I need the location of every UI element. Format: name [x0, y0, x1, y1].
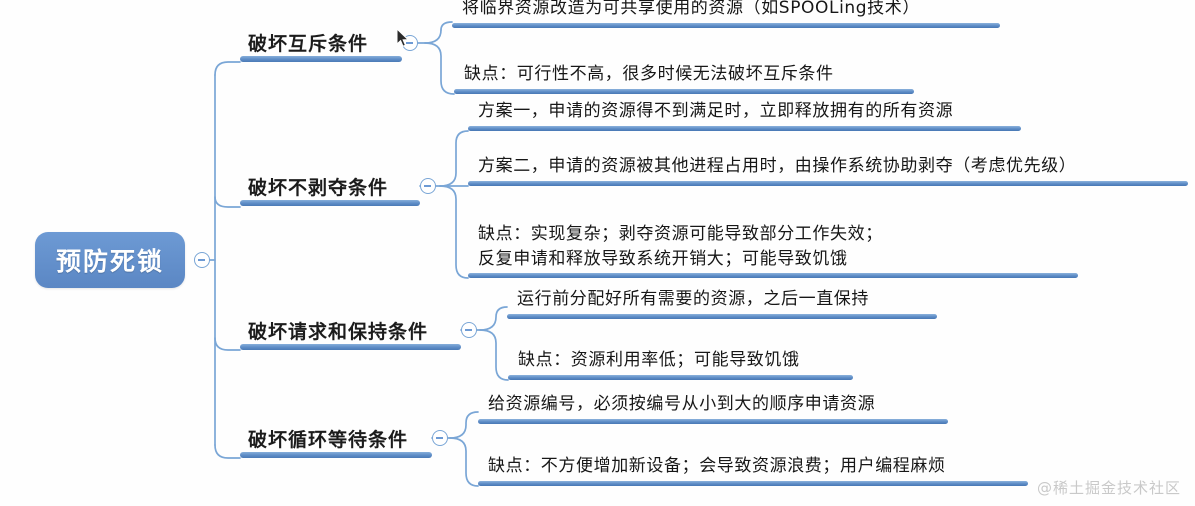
leaf-node-3-2[interactable]: 缺点：资源利用率低；可能导致饥饿: [508, 352, 853, 380]
leaf-node-1-2-underline: [454, 89, 914, 94]
watermark-text: @稀土掘金技术社区: [1037, 477, 1181, 498]
leaf-node-2-3-line1: 缺点：实现复杂；剥夺资源可能导致部分工作失效；: [478, 222, 883, 247]
leaf-node-2-3-label: 缺点：实现复杂；剥夺资源可能导致部分工作失效； 反复申请和释放导致系统开销大；可…: [478, 222, 883, 272]
leaf-node-1-1[interactable]: 将临界资源改造为可共享使用的资源（如SPOOLing技术）: [452, 0, 1000, 28]
branch-node-1-label: 破坏互斥条件: [248, 29, 368, 56]
root-node[interactable]: 预防死锁: [35, 232, 185, 288]
leaf-node-4-2-underline: [478, 481, 1028, 486]
branch-node-3-label: 破坏请求和保持条件: [248, 317, 428, 344]
mindmap-canvas[interactable]: 预防死锁 破坏互斥条件 将临界资源改造为可共享使用的资源（如SPOOLing技术…: [0, 0, 1195, 506]
collapse-minus-icon-branch-2[interactable]: [420, 178, 436, 194]
leaf-node-1-1-label: 将临界资源改造为可共享使用的资源（如SPOOLing技术）: [462, 0, 920, 21]
branch-node-4-underline: [240, 452, 432, 458]
collapse-minus-icon-branch-3[interactable]: [461, 322, 477, 338]
branch-node-3-underline: [240, 344, 461, 350]
leaf-node-3-1-underline: [507, 314, 937, 319]
branch-node-3[interactable]: 破坏请求和保持条件: [240, 322, 461, 350]
leaf-node-4-1-label: 给资源编号，必须按编号从小到大的顺序申请资源: [488, 392, 875, 417]
leaf-node-2-3[interactable]: 缺点：实现复杂；剥夺资源可能导致部分工作失效； 反复申请和释放导致系统开销大；可…: [468, 214, 1078, 278]
collapse-minus-icon-branch-4[interactable]: [432, 430, 448, 446]
leaf-node-3-1[interactable]: 运行前分配好所有需要的资源，之后一直保持: [507, 291, 937, 319]
leaf-node-4-1[interactable]: 给资源编号，必须按编号从小到大的顺序申请资源: [478, 396, 948, 424]
branch-node-2-label: 破坏不剥夺条件: [248, 173, 388, 200]
leaf-node-4-2[interactable]: 缺点：不方便增加新设备；会导致资源浪费；用户编程麻烦: [478, 458, 1028, 486]
leaf-node-1-1-underline: [452, 23, 1000, 28]
leaf-node-3-2-label: 缺点：资源利用率低；可能导致饥饿: [518, 348, 800, 373]
branch-node-1[interactable]: 破坏互斥条件: [240, 34, 402, 62]
root-node-label: 预防死锁: [56, 242, 164, 278]
collapse-minus-icon-root[interactable]: [194, 252, 210, 268]
branch-node-1-underline: [240, 56, 402, 62]
leaf-node-4-2-label: 缺点：不方便增加新设备；会导致资源浪费；用户编程麻烦: [488, 454, 946, 479]
leaf-node-2-2-underline: [468, 181, 1188, 186]
leaf-node-2-1-underline: [468, 126, 1021, 131]
leaf-node-2-3-underline: [468, 273, 1078, 278]
leaf-node-2-2[interactable]: 方案二，申请的资源被其他进程占用时，由操作系统协助剥夺（考虑优先级）: [468, 158, 1188, 186]
leaf-node-2-1[interactable]: 方案一，申请的资源得不到满足时，立即释放拥有的所有资源: [468, 103, 1021, 131]
branch-node-2[interactable]: 破坏不剥夺条件: [240, 178, 420, 206]
mouse-cursor-icon: [396, 28, 410, 48]
leaf-node-3-1-label: 运行前分配好所有需要的资源，之后一直保持: [517, 287, 869, 312]
branch-node-2-underline: [240, 200, 420, 206]
leaf-node-2-1-label: 方案一，申请的资源得不到满足时，立即释放拥有的所有资源: [478, 99, 953, 124]
branch-node-4[interactable]: 破坏循环等待条件: [240, 430, 432, 458]
leaf-node-1-2-label: 缺点：可行性不高，很多时候无法破坏互斥条件: [464, 62, 834, 87]
leaf-node-2-2-label: 方案二，申请的资源被其他进程占用时，由操作系统协助剥夺（考虑优先级）: [478, 154, 1076, 179]
leaf-node-4-1-underline: [478, 419, 948, 424]
leaf-node-1-2[interactable]: 缺点：可行性不高，很多时候无法破坏互斥条件: [454, 66, 914, 94]
branch-node-4-label: 破坏循环等待条件: [248, 425, 408, 452]
leaf-node-3-2-underline: [508, 375, 853, 380]
leaf-node-2-3-line2: 反复申请和释放导致系统开销大；可能导致饥饿: [478, 247, 883, 272]
